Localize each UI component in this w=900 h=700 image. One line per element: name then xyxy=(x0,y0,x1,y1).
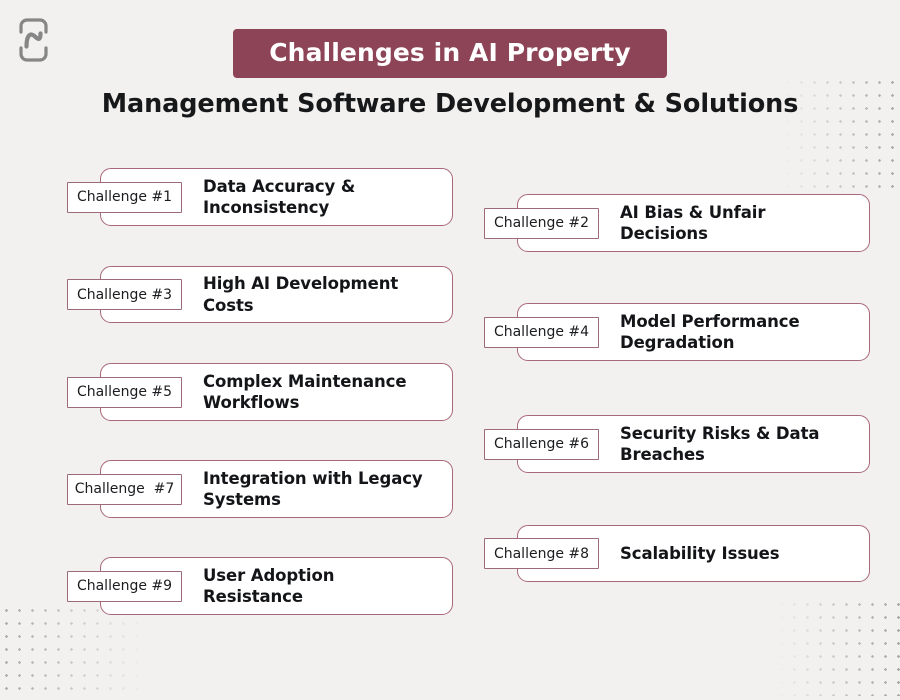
challenges-board: Data Accuracy & InconsistencyChallenge #… xyxy=(0,0,900,700)
challenge-number-badge[interactable]: Challenge #6 xyxy=(484,429,599,460)
challenge-number-badge[interactable]: Challenge #1 xyxy=(67,182,182,213)
challenge-number-badge[interactable]: Challenge #2 xyxy=(484,208,599,239)
challenge-number-badge[interactable]: Challenge #3 xyxy=(67,279,182,310)
challenge-number-badge[interactable]: Challenge #8 xyxy=(484,538,599,569)
challenge-number-badge[interactable]: Challenge #5 xyxy=(67,377,182,408)
challenge-number-badge[interactable]: Challenge #9 xyxy=(67,571,182,602)
challenge-number-badge[interactable]: Challenge #4 xyxy=(484,317,599,348)
challenge-number-badge[interactable]: Challenge #7 xyxy=(67,474,182,505)
